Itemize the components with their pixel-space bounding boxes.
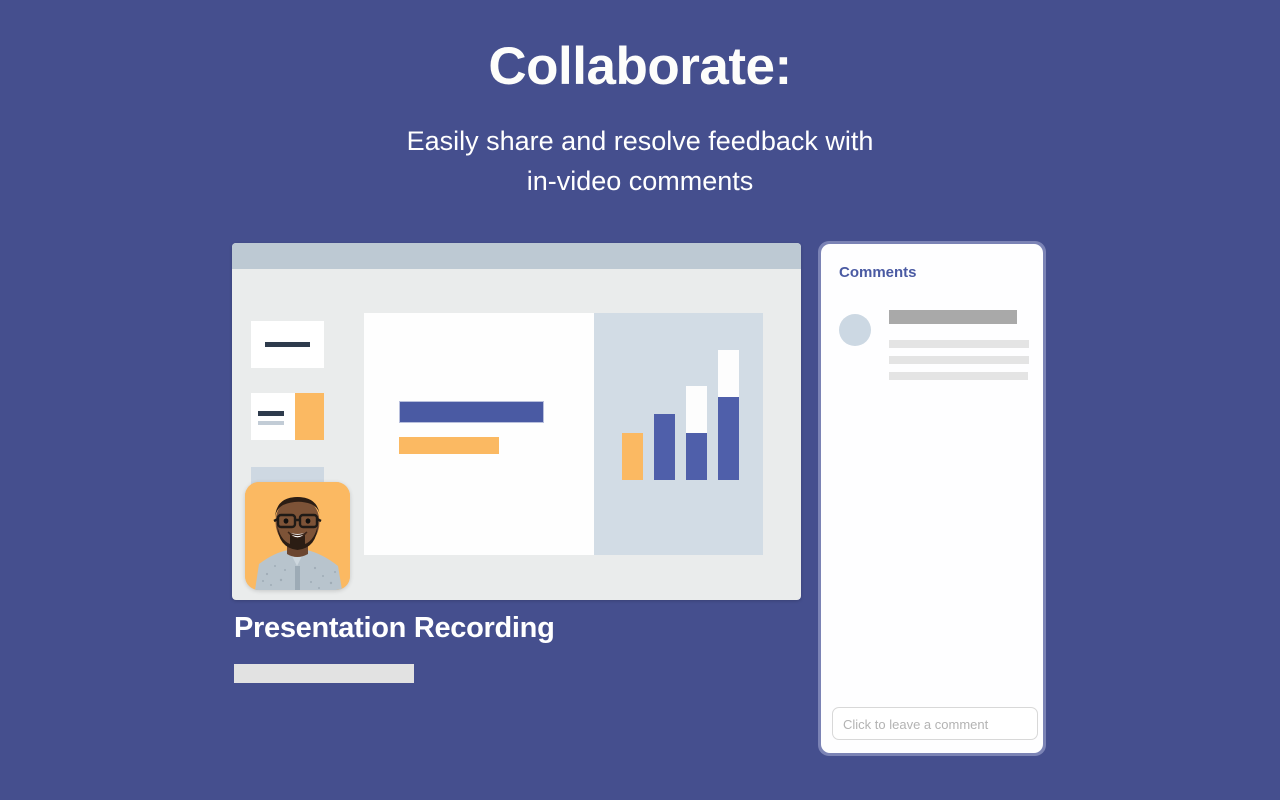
chart-bar-segment [622, 433, 643, 480]
thumbnail-heading-bar [258, 411, 284, 416]
chart-bar-segment [686, 433, 707, 480]
page-subtitle-line-1: Easily share and resolve feedback with [0, 122, 1280, 162]
slide-heading-bar [399, 401, 544, 423]
comment-input[interactable]: Click to leave a comment [832, 707, 1038, 740]
thumbnail-image-block [295, 393, 324, 440]
comment-author-placeholder [889, 310, 1017, 324]
page-subtitle: Easily share and resolve feedback with i… [0, 122, 1280, 202]
chart-bar-segment [718, 350, 739, 397]
player-title-bar [232, 243, 801, 269]
thumbnail-title-bar [265, 342, 310, 347]
comments-heading: Comments [839, 264, 917, 281]
chart-bar-segment [718, 397, 739, 480]
bar-chart [594, 320, 763, 480]
chart-bar [686, 386, 707, 480]
slide-chart-panel [594, 313, 763, 555]
comments-panel-inner: Comments Click to leave a comment [821, 244, 1043, 753]
thumbnail-text-block [251, 393, 295, 440]
comments-panel: Comments Click to leave a comment [818, 241, 1046, 756]
comment-content [889, 310, 1029, 380]
page-subtitle-line-2: in-video comments [0, 162, 1280, 202]
chart-bar [718, 350, 739, 480]
recording-subtitle-placeholder [234, 664, 414, 683]
comment-body-line [889, 340, 1029, 348]
slide-thumbnail-2[interactable] [251, 393, 324, 440]
slide-thumbnail-1[interactable] [251, 321, 324, 368]
thumbnail-body-bar [258, 421, 284, 425]
avatar [839, 314, 871, 346]
chart-bar-segment [686, 386, 707, 433]
slide-canvas: Collaborate: Easily share and resolve fe… [0, 0, 1280, 800]
chart-bar [622, 433, 643, 480]
chart-bar-segment [654, 414, 675, 480]
chart-bar [654, 414, 675, 480]
comment-body-line [889, 372, 1028, 380]
presenter-portrait [245, 482, 350, 590]
presenter-webcam[interactable] [245, 482, 350, 590]
video-player-card[interactable] [232, 243, 801, 600]
comment-input-placeholder: Click to leave a comment [843, 708, 988, 741]
slide-subheading-bar [399, 437, 499, 454]
recording-title: Presentation Recording [234, 612, 555, 645]
current-slide [364, 313, 594, 555]
comment-body-line [889, 356, 1029, 364]
player-content-area [232, 269, 801, 600]
page-title: Collaborate: [0, 38, 1280, 96]
